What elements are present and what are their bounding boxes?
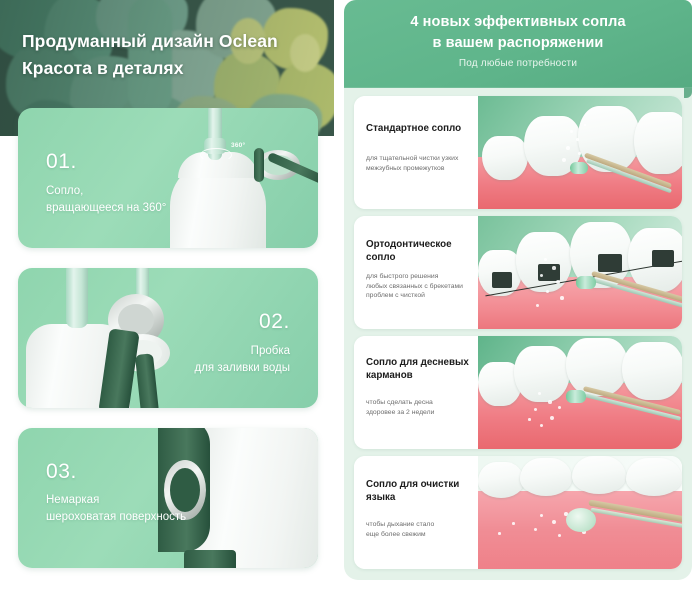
nozzle-3-name-line1: Сопло для десневых — [366, 356, 472, 369]
nozzle-1-description: для тщательной чистки узких межзубных пр… — [366, 154, 470, 173]
rotation-arc-icon — [200, 148, 232, 162]
card-01-number: 01. — [46, 150, 77, 174]
nozzle-4-text-area: Сопло для очистки языка чтобы дыхание ст… — [354, 456, 478, 569]
left-column: Продуманный дизайн Oclean Красота в дета… — [0, 0, 336, 597]
nozzles-panel-header: 4 новых эффективных сопла в вашем распор… — [344, 0, 692, 88]
product-infographic: Продуманный дизайн Oclean Красота в дета… — [0, 0, 700, 597]
nozzle-card-standard[interactable]: Стандартное сопло для тщательной чистки … — [354, 96, 682, 209]
nozzle-3-desc-line2: здоровее за 2 недели — [366, 408, 470, 418]
card-01-caption-line1: Сопло, — [46, 183, 216, 200]
nozzle-2-text-area: Ортодонтическое сопло для быстрого решен… — [354, 216, 478, 329]
panel-title-line1: 4 новых эффективных сопла — [344, 12, 692, 33]
nozzle-4-name-line2: языка — [366, 491, 472, 504]
nozzle-2-desc-line1: для быстрого решения — [366, 272, 470, 282]
nozzle-4-name-line1: Сопло для очистки — [366, 478, 472, 491]
nozzle-2-desc-line2: любых связанных с брекетами — [366, 282, 470, 292]
braces-bracket-icon — [538, 264, 560, 281]
nozzle-2-name-line2: сопло — [366, 251, 472, 264]
hero-title-line2: Красота в деталях — [22, 55, 322, 82]
nozzle-4-desc-line2: еще более свежим — [366, 530, 470, 540]
card-01-caption: Сопло, вращающееся на 360° — [46, 183, 216, 217]
card-03-caption: Немаркая шероховатая поверхность — [46, 492, 226, 526]
nozzle-2-name-line1: Ортодонтическое — [366, 238, 472, 251]
nozzle-4-name: Сопло для очистки языка — [366, 478, 472, 504]
panel-subtitle: Под любые потребности — [344, 58, 692, 69]
nozzle-card-orthodontic[interactable]: Ортодонтическое сопло для быстрого решен… — [354, 216, 682, 329]
right-column: 4 новых эффективных сопла в вашем распор… — [344, 0, 700, 597]
nozzle-card-tongue[interactable]: Сопло для очистки языка чтобы дыхание ст… — [354, 456, 682, 569]
card-01-caption-line2: вращающееся на 360° — [46, 200, 216, 217]
nozzle-1-demo-image — [478, 96, 682, 209]
panel-title: 4 новых эффективных сопла в вашем распор… — [344, 12, 692, 54]
page-title: Продуманный дизайн Oclean Красота в дета… — [22, 28, 322, 82]
card-03-caption-line1: Немаркая — [46, 492, 226, 509]
nozzle-1-desc-line2: межзубных промежутков — [366, 164, 470, 174]
nozzle-1-desc-line1: для тщательной чистки узких — [366, 154, 470, 164]
nozzle-card-periodontal[interactable]: Сопло для десневых карманов чтобы сделат… — [354, 336, 682, 449]
hero-title-line1: Продуманный дизайн Oclean — [22, 28, 322, 55]
nozzle-1-text-area: Стандартное сопло для тщательной чистки … — [354, 96, 478, 209]
feature-card-01: 360° 01. Сопло, вращающееся на 360° — [18, 108, 318, 248]
feature-card-02: 02. Пробка для заливки воды — [18, 268, 318, 408]
panel-title-line2: в вашем распоряжении — [344, 33, 692, 54]
nozzle-2-desc-line3: проблем с чисткой — [366, 291, 470, 301]
braces-bracket-icon — [492, 272, 512, 288]
card-02-photo — [18, 268, 318, 408]
nozzle-4-demo-image — [478, 456, 682, 569]
braces-bracket-icon — [652, 250, 674, 267]
card-02-caption-line1: Пробка — [100, 343, 290, 360]
card-03-number: 03. — [46, 460, 77, 484]
card-02-caption-line2: для заливки воды — [100, 360, 290, 377]
feature-card-03: 03. Немаркая шероховатая поверхность — [18, 428, 318, 568]
nozzle-3-name-line2: карманов — [366, 369, 472, 382]
card-02-caption: Пробка для заливки воды — [100, 343, 290, 377]
nozzle-3-desc-line1: чтобы сделать десна — [366, 398, 470, 408]
nozzle-3-text-area: Сопло для десневых карманов чтобы сделат… — [354, 336, 478, 449]
nozzle-4-description: чтобы дыхание стало еще более свежим — [366, 520, 470, 539]
nozzle-1-name: Стандартное сопло — [366, 122, 472, 135]
card-03-caption-line2: шероховатая поверхность — [46, 509, 226, 526]
nozzle-2-name: Ортодонтическое сопло — [366, 238, 472, 264]
nozzle-3-demo-image — [478, 336, 682, 449]
nozzle-4-desc-line1: чтобы дыхание стало — [366, 520, 470, 530]
badge-360: 360° — [231, 142, 245, 149]
card-01-photo: 360° — [18, 108, 318, 248]
nozzle-2-description: для быстрого решения любых связанных с б… — [366, 272, 470, 301]
nozzle-3-description: чтобы сделать десна здоровее за 2 недели — [366, 398, 470, 417]
braces-bracket-icon — [598, 254, 622, 272]
nozzle-2-demo-image — [478, 216, 682, 329]
nozzle-3-name: Сопло для десневых карманов — [366, 356, 472, 382]
card-02-number: 02. — [259, 310, 290, 334]
